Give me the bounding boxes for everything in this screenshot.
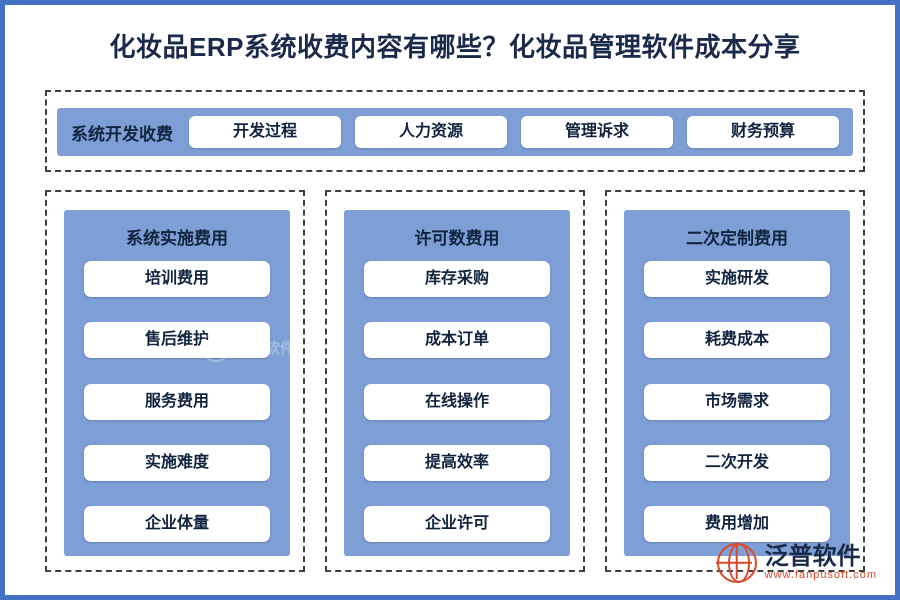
- column-item[interactable]: 费用增加: [644, 506, 830, 542]
- column-item[interactable]: 实施难度: [84, 445, 270, 481]
- column-title: 二次定制费用: [644, 224, 830, 249]
- brand-name-cn: 泛普软件: [765, 544, 877, 569]
- top-pill-item[interactable]: 人力资源: [355, 116, 507, 148]
- column-dashed-1: 系统实施费用 培训费用 售后维护 服务费用 实施难度 企业体量: [45, 190, 305, 572]
- column-item[interactable]: 企业体量: [84, 506, 270, 542]
- column-item[interactable]: 成本订单: [364, 322, 550, 358]
- column-title: 系统实施费用: [84, 224, 270, 249]
- globe-icon: [717, 543, 757, 583]
- column-panel-2: 许可数费用 库存采购 成本订单 在线操作 提高效率 企业许可: [344, 210, 570, 556]
- column-item[interactable]: 实施研发: [644, 261, 830, 297]
- column-item-list: 实施研发 耗费成本 市场需求 二次开发 费用增加: [644, 261, 830, 542]
- column-item[interactable]: 培训费用: [84, 261, 270, 297]
- top-pill-item[interactable]: 财务预算: [687, 116, 839, 148]
- top-category-label: 系统开发收费: [71, 120, 173, 145]
- column-item-list: 库存采购 成本订单 在线操作 提高效率 企业许可: [364, 261, 550, 542]
- column-panel-3: 二次定制费用 实施研发 耗费成本 市场需求 二次开发 费用增加: [624, 210, 850, 556]
- brand-logo: 泛普软件 www.fanpusoft.com: [717, 543, 877, 583]
- column-item[interactable]: 服务费用: [84, 384, 270, 420]
- column-item[interactable]: 市场需求: [644, 384, 830, 420]
- column-item[interactable]: 在线操作: [364, 384, 550, 420]
- column-item-list: 培训费用 售后维护 服务费用 实施难度 企业体量: [84, 261, 270, 542]
- page-title: 化妆品ERP系统收费内容有哪些？化妆品管理软件成本分享: [5, 27, 900, 64]
- column-item[interactable]: 提高效率: [364, 445, 550, 481]
- poster-canvas: 化妆品ERP系统收费内容有哪些？化妆品管理软件成本分享 系统开发收费 开发过程 …: [0, 0, 900, 600]
- top-category-bar: 系统开发收费 开发过程 人力资源 管理诉求 财务预算: [57, 108, 853, 156]
- brand-url: www.fanpusoft.com: [765, 569, 877, 582]
- column-item[interactable]: 售后维护: [84, 322, 270, 358]
- column-item[interactable]: 库存采购: [364, 261, 550, 297]
- top-pill-item[interactable]: 管理诉求: [521, 116, 673, 148]
- column-group: 系统实施费用 培训费用 售后维护 服务费用 实施难度 企业体量 许可数费用 库存…: [45, 190, 865, 572]
- top-pill-list: 开发过程 人力资源 管理诉求 财务预算: [189, 116, 839, 148]
- column-title: 许可数费用: [364, 224, 550, 249]
- column-dashed-2: 许可数费用 库存采购 成本订单 在线操作 提高效率 企业许可: [325, 190, 585, 572]
- column-panel-1: 系统实施费用 培训费用 售后维护 服务费用 实施难度 企业体量: [64, 210, 290, 556]
- top-pill-item[interactable]: 开发过程: [189, 116, 341, 148]
- column-item[interactable]: 耗费成本: [644, 322, 830, 358]
- brand-logo-text: 泛普软件 www.fanpusoft.com: [765, 544, 877, 582]
- column-item[interactable]: 二次开发: [644, 445, 830, 481]
- column-dashed-3: 二次定制费用 实施研发 耗费成本 市场需求 二次开发 费用增加: [605, 190, 865, 572]
- column-item[interactable]: 企业许可: [364, 506, 550, 542]
